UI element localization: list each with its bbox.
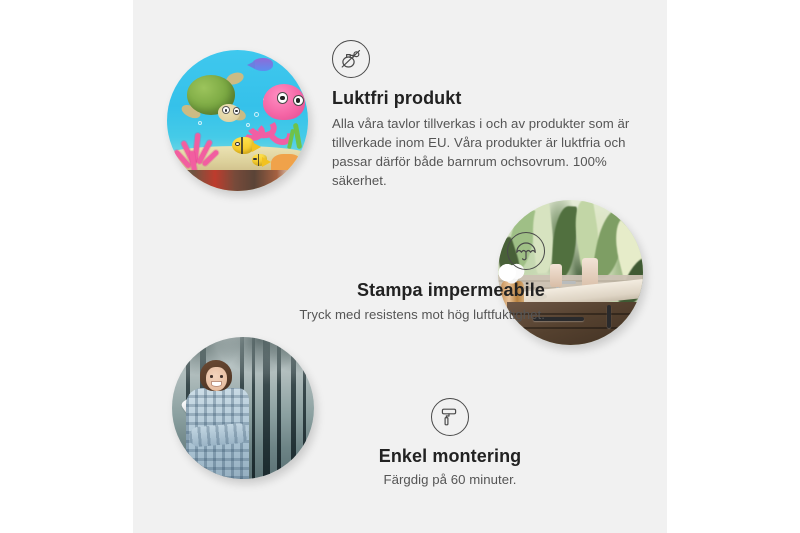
feature-block-stampa-impermeabile: Stampa impermeabile Tryck med resistens …: [215, 232, 545, 324]
paint-roller-icon: [431, 398, 469, 436]
feature-block-luktfri-produkt: Luktfri produkt Alla våra tavlor tillver…: [332, 40, 632, 190]
feature-title: Enkel montering: [285, 444, 615, 468]
content-stage: Luktfri produkt Alla våra tavlor tillver…: [133, 0, 667, 533]
feature-title: Luktfri produkt: [332, 86, 632, 110]
umbrella-icon: [507, 232, 545, 270]
feature-block-enkel-montering: Enkel montering Färgdig på 60 minuter.: [285, 398, 615, 489]
feature-body: Tryck med resistens mot hög luftfuktighe…: [215, 305, 545, 324]
underwater-cartoon-photo: [167, 50, 308, 191]
feature-body: Alla våra tavlor tillverkas i och av pro…: [332, 114, 632, 190]
feature-body: Färgdig på 60 minuter.: [285, 470, 615, 489]
product-feature-infographic: Luktfri produkt Alla våra tavlor tillver…: [0, 0, 800, 533]
coral-decoration: [178, 132, 215, 169]
feature-title: Stampa impermeabile: [215, 278, 545, 302]
no-odor-perfume-bottle-icon: [332, 40, 370, 78]
